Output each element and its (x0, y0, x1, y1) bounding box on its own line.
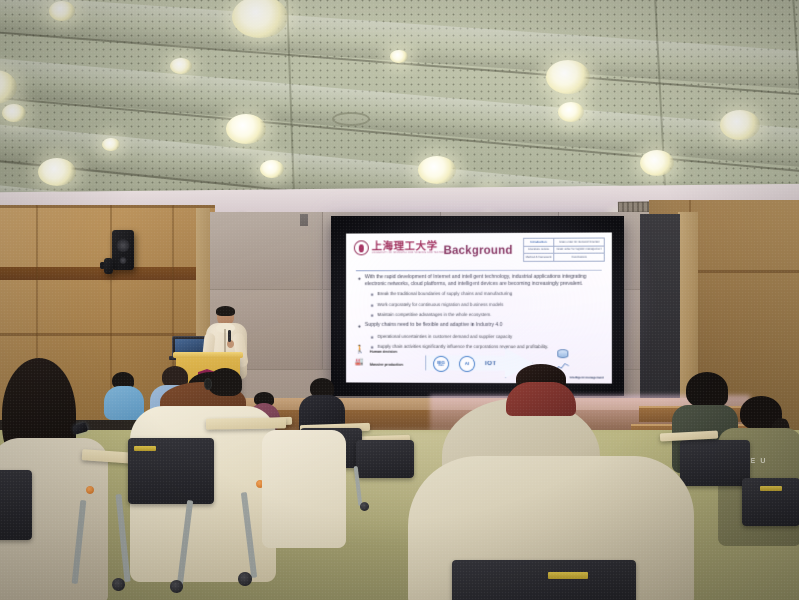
hair (208, 368, 242, 396)
headphones-icon (204, 378, 212, 390)
chip-sublabel: Data (439, 365, 444, 367)
handheld-microphone-icon (228, 330, 231, 342)
slide-nav-table: Introduction Grain order for demand fore… (523, 238, 605, 262)
slide-bullet-level2: ■ Maintain competitive advantages in the… (371, 312, 602, 319)
bullet-text: Break the traditional boundaries of supp… (377, 291, 512, 298)
big-data-chip: BIG Data (433, 356, 449, 372)
nav-cell: Grain order for demand forecast (554, 238, 604, 246)
ceiling-downlight (640, 150, 674, 176)
person-walking-icon: 🚶 (355, 346, 365, 354)
ceiling-downlight (418, 156, 456, 184)
bullet-text: Work corporately for continuous migratio… (377, 302, 503, 309)
wall-speaker-icon (104, 258, 113, 274)
ceiling-access-disc (332, 112, 370, 126)
slide-bullet-level1: ● Supply chains need to be flexible and … (358, 322, 602, 331)
nav-cell: Method & framework (523, 254, 554, 262)
bullet-text: Supply chains need to be flexible and ad… (365, 322, 503, 331)
presenter-hair (216, 306, 235, 316)
bullet-dot-icon: ■ (371, 303, 374, 309)
chair-safety-label (134, 446, 156, 451)
chair-tablet-pivot (86, 486, 94, 494)
diagram-label: Human decision (370, 350, 397, 354)
bullet-text: Operational uncertainties in customer de… (377, 333, 512, 340)
lectern-top (173, 352, 243, 358)
factory-icon: 🏭 (355, 359, 364, 366)
nav-cell: Literature review (523, 246, 554, 254)
ceiling-downlight (226, 114, 266, 144)
chair-safety-label (760, 486, 782, 491)
ceiling-downlight (170, 58, 192, 74)
slide-bullet-level2: ■ Work corporately for continuous migrat… (371, 302, 602, 309)
dark-wall-panel (300, 214, 308, 226)
ceiling-downlight (558, 102, 584, 122)
ceiling-downlight (260, 160, 284, 178)
bullet-text: With the rapid development of Internet a… (365, 274, 602, 289)
bullet-text: Maintain competitive advantages in the w… (377, 312, 491, 319)
lecture-hall-photo: 上海理工大学 UNIVERSITY OF SHANGHAI FOR SCIENC… (0, 0, 799, 600)
scarf (506, 382, 576, 416)
bullet-dot-icon: ■ (371, 292, 374, 298)
slide-divider (356, 270, 602, 272)
chair-safety-label (548, 572, 588, 579)
ceiling-downlight (390, 50, 408, 63)
bullet-dot-icon: ■ (371, 313, 374, 319)
ceiling-downlight (2, 104, 26, 122)
diagram-label: Massive production (370, 363, 403, 367)
bullet-dot-icon: ■ (371, 334, 374, 340)
audience-member (296, 378, 348, 430)
wall-speaker-icon (112, 230, 134, 270)
chip-label: AI (465, 362, 469, 366)
audience-member (196, 368, 250, 416)
nav-cell: Grain order for logistic management (554, 246, 604, 254)
chair-caster-wheel (238, 572, 252, 586)
audience-member-head-scarf (506, 364, 578, 412)
ceiling-downlight (102, 138, 120, 151)
ceiling-downlight (49, 1, 75, 21)
torso (262, 430, 346, 548)
chair-tablet-arm (206, 417, 286, 429)
database-icon (557, 349, 568, 358)
chair-back (0, 470, 32, 540)
ceiling-downlight (38, 158, 76, 186)
slide-bullet-level2: ■ Break the traditional boundaries of su… (371, 291, 602, 298)
draped-jacket (262, 430, 348, 550)
bullet-dot-icon: ● (358, 324, 361, 331)
slide-bullet-level2: ■ Operational uncertainties in customer … (371, 333, 602, 341)
ai-chip: AI (459, 356, 475, 372)
bullet-dot-icon: ● (358, 276, 361, 289)
slide-bullet-level1: ● With the rapid development of Internet… (358, 274, 602, 289)
iot-label: IOT (485, 360, 497, 367)
chair-back (452, 560, 636, 600)
chair-caster-wheel (360, 502, 369, 511)
presentation-slide: 上海理工大学 UNIVERSITY OF SHANGHAI FOR SCIENC… (346, 232, 612, 383)
nav-cell: Introduction (523, 238, 554, 246)
ceiling-downlight (720, 110, 760, 140)
ceiling-downlight (546, 60, 590, 94)
chair-back (356, 440, 414, 478)
nav-cell: Conclusions (554, 253, 604, 261)
chair-caster-wheel (112, 578, 125, 591)
projection-screen: 上海理工大学 UNIVERSITY OF SHANGHAI FOR SCIENC… (331, 216, 624, 396)
slide-bullet-list: ● With the rapid development of Internet… (358, 274, 602, 355)
chair-caster-wheel (170, 580, 183, 593)
